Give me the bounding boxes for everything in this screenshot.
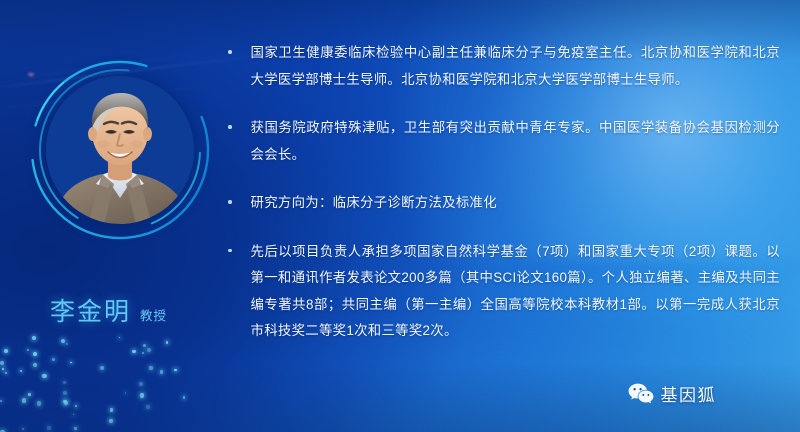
bullet-text: 国家卫生健康委临床检验中心副主任兼临床分子与免疫室主任。北京协和医学院和北京大学… [251,40,781,93]
bullet-dot-icon [228,249,232,253]
speaker-name: 李金明 [50,292,131,328]
list-item: 研究方向为：临床分子诊断方法及标准化 [228,190,780,217]
avatar [46,76,194,224]
list-item: 先后以项目负责人承担多项国家自然科学基金（7项）和国家重大专项（2项）课题。以第… [228,239,780,345]
particle-field [0,322,210,432]
speaker-title: 教授 [140,305,167,324]
avatar-image [46,76,194,224]
bio-bullet-list: 国家卫生健康委临床检验中心副主任兼临床分子与免疫室主任。北京协和医学院和北京大学… [228,40,780,345]
list-item: 获国务院政府特殊津贴，卫生部有突出贡献中青年专家。中国医学装备协会基因检测分会会… [228,115,780,168]
bullet-text: 获国务院政府特殊津贴，卫生部有突出贡献中青年专家。中国医学装备协会基因检测分会会… [251,115,781,168]
speaker-name-block: 李金明 教授 [50,292,167,328]
wechat-icon [628,383,654,404]
bullet-text: 先后以项目负责人承担多项国家自然科学基金（7项）和国家重大专项（2项）课题。以第… [251,239,781,345]
bullet-dot-icon [228,50,232,54]
speaker-portrait [36,66,204,234]
wechat-label: 基因狐 [661,381,717,406]
list-item: 国家卫生健康委临床检验中心副主任兼临床分子与免疫室主任。北京协和医学院和北京大学… [228,40,780,93]
bullet-dot-icon [228,125,232,129]
presentation-slide: 李金明 教授 国家卫生健康委临床检验中心副主任兼临床分子与免疫室主任。北京协和医… [0,0,800,432]
bullet-text: 研究方向为：临床分子诊断方法及标准化 [251,190,497,217]
bullet-dot-icon [228,200,232,204]
wechat-watermark: 基因狐 [628,381,717,406]
